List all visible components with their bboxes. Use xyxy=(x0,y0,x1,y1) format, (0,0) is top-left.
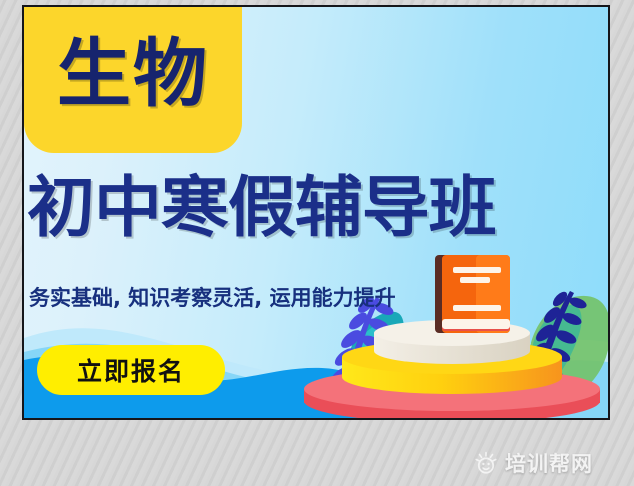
poster-frame: 生物 初中寒假辅导班 务实基础, 知识考察灵活, 运用能力提升 立即报名 xyxy=(22,5,610,420)
sun-smiley-icon xyxy=(474,451,498,475)
subtitle-text: 务实基础, 知识考察灵活, 运用能力提升 xyxy=(29,282,396,312)
subject-badge-label: 生物 xyxy=(57,37,209,117)
illustration-book-podium xyxy=(292,253,610,420)
poster-canvas: 生物 初中寒假辅导班 务实基础, 知识考察灵活, 运用能力提升 立即报名 xyxy=(24,7,608,418)
enroll-now-button-label: 立即报名 xyxy=(77,352,185,388)
enroll-now-button[interactable]: 立即报名 xyxy=(37,345,225,395)
book-illustration xyxy=(435,255,510,333)
subject-badge: 生物 xyxy=(24,5,242,153)
watermark-label: 培训帮网 xyxy=(505,448,593,478)
page-title: 初中寒假辅导班 xyxy=(27,173,610,243)
watermark: 培训帮网 xyxy=(474,448,593,478)
